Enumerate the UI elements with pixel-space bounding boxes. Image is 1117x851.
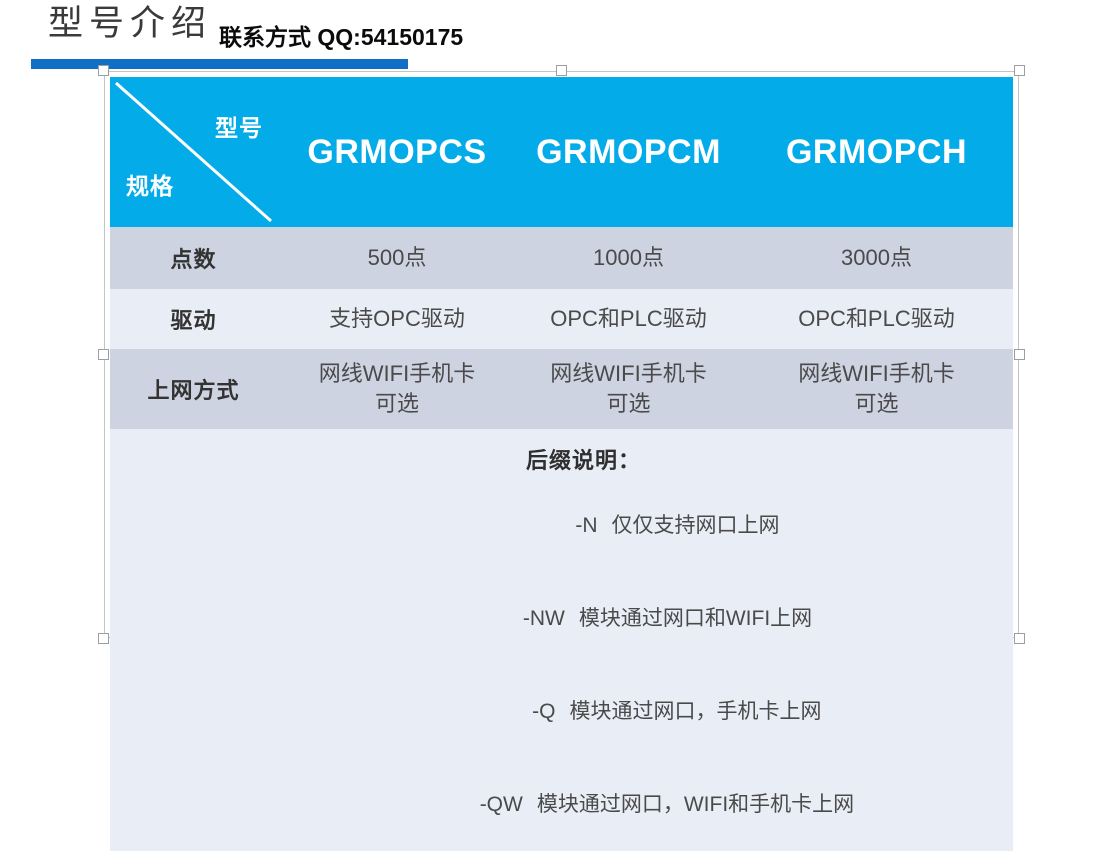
table-footnote-row: 后缀说明： -N仅仅支持网口上网 -NW模块通过网口和WIFI上网 -Q模块通过… bbox=[110, 429, 1013, 851]
footnote-cell: 后缀说明： -N仅仅支持网口上网 -NW模块通过网口和WIFI上网 -Q模块通过… bbox=[110, 429, 1013, 851]
footnote-text: 模块通过网口和WIFI上网 bbox=[579, 607, 812, 630]
footnote-text: 仅仅支持网口上网 bbox=[612, 514, 780, 537]
cell-value: 3000点 bbox=[841, 245, 912, 270]
table-cell: OPC和PLC驱动 bbox=[517, 289, 740, 349]
spec-table-object[interactable]: 型号 规格 GRMOPCS GRMOPCM GRMOPCH 点数 500点 bbox=[104, 71, 1019, 638]
table-header-row: 型号 规格 GRMOPCS GRMOPCM GRMOPCH bbox=[110, 77, 1013, 227]
cell-value: 支持OPC驱动 bbox=[329, 306, 465, 331]
corner-model-label: 型号 bbox=[215, 109, 263, 143]
resize-handle-bottom-right[interactable] bbox=[1014, 633, 1025, 644]
footnote-code: -Q bbox=[494, 696, 570, 727]
footnote-line: -N仅仅支持网口上网 bbox=[154, 479, 1013, 572]
row-label: 上网方式 bbox=[147, 378, 239, 403]
footnote-code: -NW bbox=[503, 603, 579, 634]
column-header-label: GRMOPCM bbox=[536, 133, 721, 171]
page-title: 型号介绍 bbox=[48, 2, 212, 46]
header-corner-cell: 型号 规格 bbox=[110, 77, 277, 227]
cell-value: OPC和PLC驱动 bbox=[550, 306, 706, 331]
table-cell: 支持OPC驱动 bbox=[277, 289, 517, 349]
row-label-cell: 点数 bbox=[110, 227, 277, 289]
resize-handle-middle-right[interactable] bbox=[1014, 349, 1025, 360]
cell-value: 网线WIFI手机卡可选 bbox=[798, 361, 954, 416]
footnote-code: -N bbox=[536, 510, 612, 541]
cell-value: 网线WIFI手机卡可选 bbox=[550, 361, 706, 416]
footnote-text: 模块通过网口，WIFI和手机卡上网 bbox=[537, 793, 854, 816]
column-header-grmopcs: GRMOPCS bbox=[277, 77, 517, 227]
row-label: 点数 bbox=[170, 247, 216, 272]
title-accent-bar bbox=[31, 59, 408, 69]
table-row: 上网方式 网线WIFI手机卡可选 网线WIFI手机卡可选 网线WIFI手机卡可选 bbox=[110, 349, 1013, 429]
resize-handle-top-left[interactable] bbox=[98, 65, 109, 76]
footnote-line: -Q模块通过网口，手机卡上网 bbox=[154, 665, 1013, 758]
row-label-cell: 上网方式 bbox=[110, 349, 277, 429]
resize-handle-top-right[interactable] bbox=[1014, 65, 1025, 76]
table-cell: 3000点 bbox=[740, 227, 1013, 289]
resize-handle-top-center[interactable] bbox=[556, 65, 567, 76]
table-cell: 1000点 bbox=[517, 227, 740, 289]
table-cell: 网线WIFI手机卡可选 bbox=[740, 349, 1013, 429]
footnote-title: 后缀说明： bbox=[154, 443, 1013, 475]
column-header-grmopch: GRMOPCH bbox=[740, 77, 1013, 227]
table-cell: 500点 bbox=[277, 227, 517, 289]
diagonal-divider-icon bbox=[110, 77, 277, 227]
column-header-label: GRMOPCH bbox=[786, 133, 967, 171]
footnote-line: -QW模块通过网口，WIFI和手机卡上网 bbox=[154, 758, 1013, 851]
row-label: 驱动 bbox=[170, 308, 216, 333]
table-row: 点数 500点 1000点 3000点 bbox=[110, 227, 1013, 289]
cell-value: 1000点 bbox=[593, 245, 664, 270]
contact-info: 联系方式 QQ:54150175 bbox=[219, 22, 463, 52]
slide-title-block: 型号介绍 联系方式 QQ:54150175 bbox=[0, 0, 1117, 70]
resize-handle-middle-left[interactable] bbox=[98, 349, 109, 360]
column-header-grmopcm: GRMOPCM bbox=[517, 77, 740, 227]
table-cell: OPC和PLC驱动 bbox=[740, 289, 1013, 349]
column-header-label: GRMOPCS bbox=[307, 133, 486, 171]
footnote-line: -NW模块通过网口和WIFI上网 bbox=[154, 572, 1013, 665]
corner-spec-label: 规格 bbox=[126, 167, 174, 201]
footnote-code: -QW bbox=[461, 789, 537, 820]
table-row: 驱动 支持OPC驱动 OPC和PLC驱动 OPC和PLC驱动 bbox=[110, 289, 1013, 349]
cell-value: OPC和PLC驱动 bbox=[798, 306, 954, 331]
footnote: 后缀说明： -N仅仅支持网口上网 -NW模块通过网口和WIFI上网 -Q模块通过… bbox=[110, 429, 1013, 851]
table-cell: 网线WIFI手机卡可选 bbox=[277, 349, 517, 429]
footnote-text: 模块通过网口，手机卡上网 bbox=[570, 700, 822, 723]
cell-value: 500点 bbox=[368, 245, 427, 270]
resize-handle-bottom-left[interactable] bbox=[98, 633, 109, 644]
cell-value: 网线WIFI手机卡可选 bbox=[319, 361, 475, 416]
table-cell: 网线WIFI手机卡可选 bbox=[517, 349, 740, 429]
row-label-cell: 驱动 bbox=[110, 289, 277, 349]
spec-table[interactable]: 型号 规格 GRMOPCS GRMOPCM GRMOPCH 点数 500点 bbox=[110, 77, 1013, 851]
